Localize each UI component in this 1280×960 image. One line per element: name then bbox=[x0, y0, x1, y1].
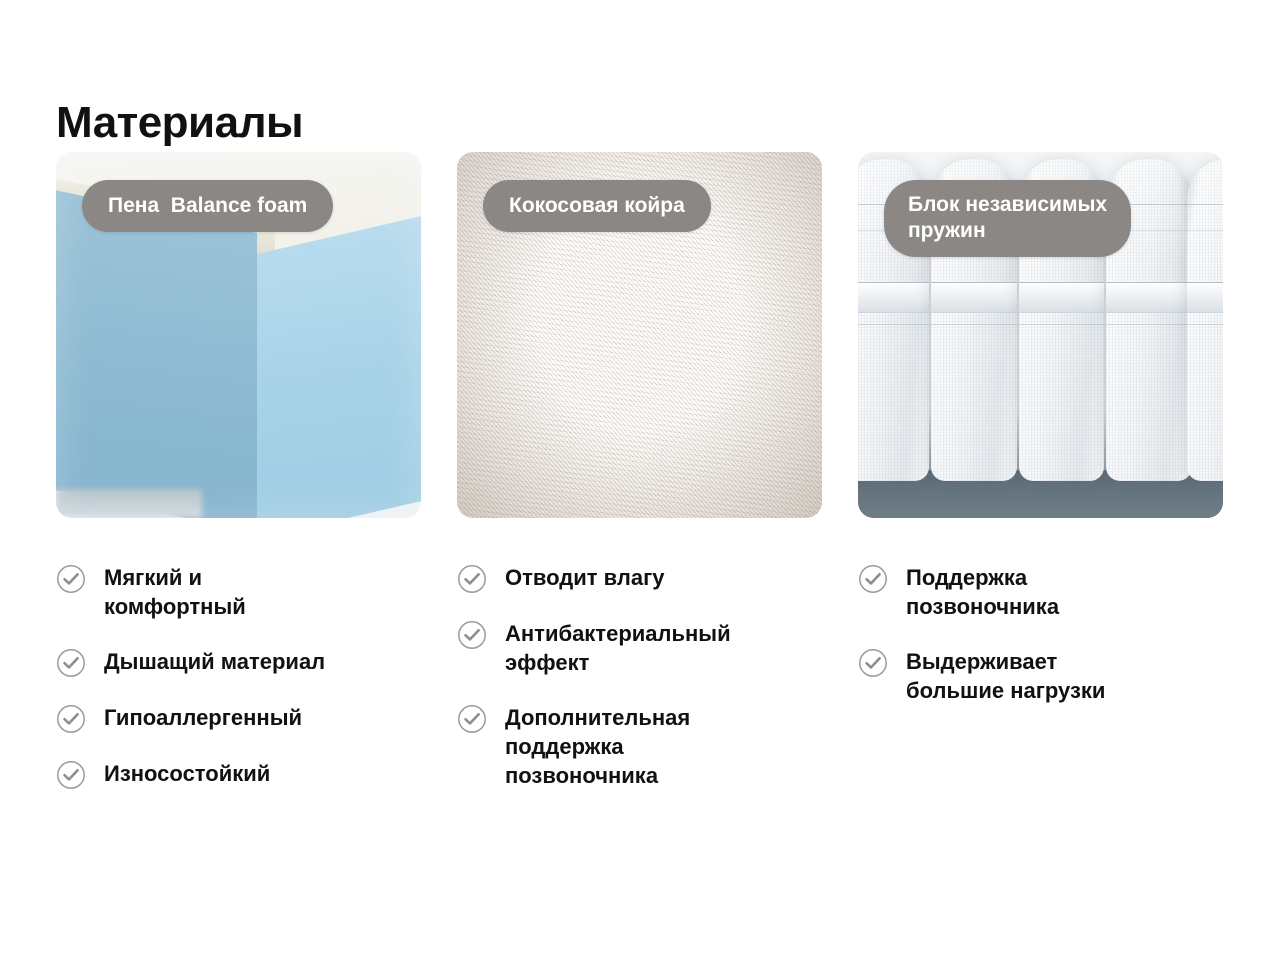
feature-label: Дышащий материал bbox=[104, 646, 325, 676]
feature-label: Антибактериальный эффект bbox=[505, 618, 731, 678]
feature-item: Антибактериальный эффект bbox=[457, 618, 822, 678]
check-circle-icon bbox=[858, 564, 888, 594]
feature-item: Гипоаллергенный bbox=[56, 702, 421, 734]
feature-item: Дышащий материал bbox=[56, 646, 421, 678]
feature-label: Выдерживает большие нагрузки bbox=[906, 646, 1105, 706]
feature-item: Дополнительная поддержка позвоночника bbox=[457, 702, 822, 791]
feature-column-coir: Отводит влагу Антибактериальный эффект bbox=[457, 562, 822, 790]
feature-label: Отводит влагу bbox=[505, 562, 665, 592]
check-circle-icon bbox=[56, 564, 86, 594]
feature-label: Поддержка позвоночника bbox=[906, 562, 1059, 622]
feature-column-springs: Поддержка позвоночника Выдерживает больш… bbox=[858, 562, 1223, 790]
check-circle-icon bbox=[56, 760, 86, 790]
check-circle-icon bbox=[457, 620, 487, 650]
check-circle-icon bbox=[56, 704, 86, 734]
material-card-row: Пена Balance foam Кокосовая койра Бло bbox=[56, 152, 1224, 518]
check-circle-icon bbox=[858, 648, 888, 678]
page-title: Материалы bbox=[56, 101, 303, 145]
check-circle-icon bbox=[457, 704, 487, 734]
material-card-springs[interactable]: Блок независимых пружин bbox=[858, 152, 1223, 518]
feature-item: Износостойкий bbox=[56, 758, 421, 790]
feature-label: Гипоаллергенный bbox=[104, 702, 302, 732]
material-card-label-foam: Пена Balance foam bbox=[82, 180, 333, 232]
check-circle-icon bbox=[457, 564, 487, 594]
feature-item: Поддержка позвоночника bbox=[858, 562, 1223, 622]
feature-column-foam: Мягкий и комфортный Дышащий материал bbox=[56, 562, 421, 790]
feature-item: Выдерживает большие нагрузки bbox=[858, 646, 1223, 706]
feature-label: Мягкий и комфортный bbox=[104, 562, 246, 622]
slide-root: Материалы Пена Balance foam Кокосов bbox=[0, 0, 1280, 960]
material-card-label-springs: Блок независимых пружин bbox=[884, 180, 1131, 257]
check-circle-icon bbox=[56, 648, 86, 678]
feature-label: Износостойкий bbox=[104, 758, 270, 788]
feature-label: Дополнительная поддержка позвоночника bbox=[505, 702, 690, 791]
feature-columns: Мягкий и комфортный Дышащий материал bbox=[56, 562, 1236, 790]
material-card-label-coir: Кокосовая койра bbox=[483, 180, 711, 232]
material-card-foam[interactable]: Пена Balance foam bbox=[56, 152, 421, 518]
material-card-coir[interactable]: Кокосовая койра bbox=[457, 152, 822, 518]
feature-item: Отводит влагу bbox=[457, 562, 822, 594]
feature-item: Мягкий и комфортный bbox=[56, 562, 421, 622]
